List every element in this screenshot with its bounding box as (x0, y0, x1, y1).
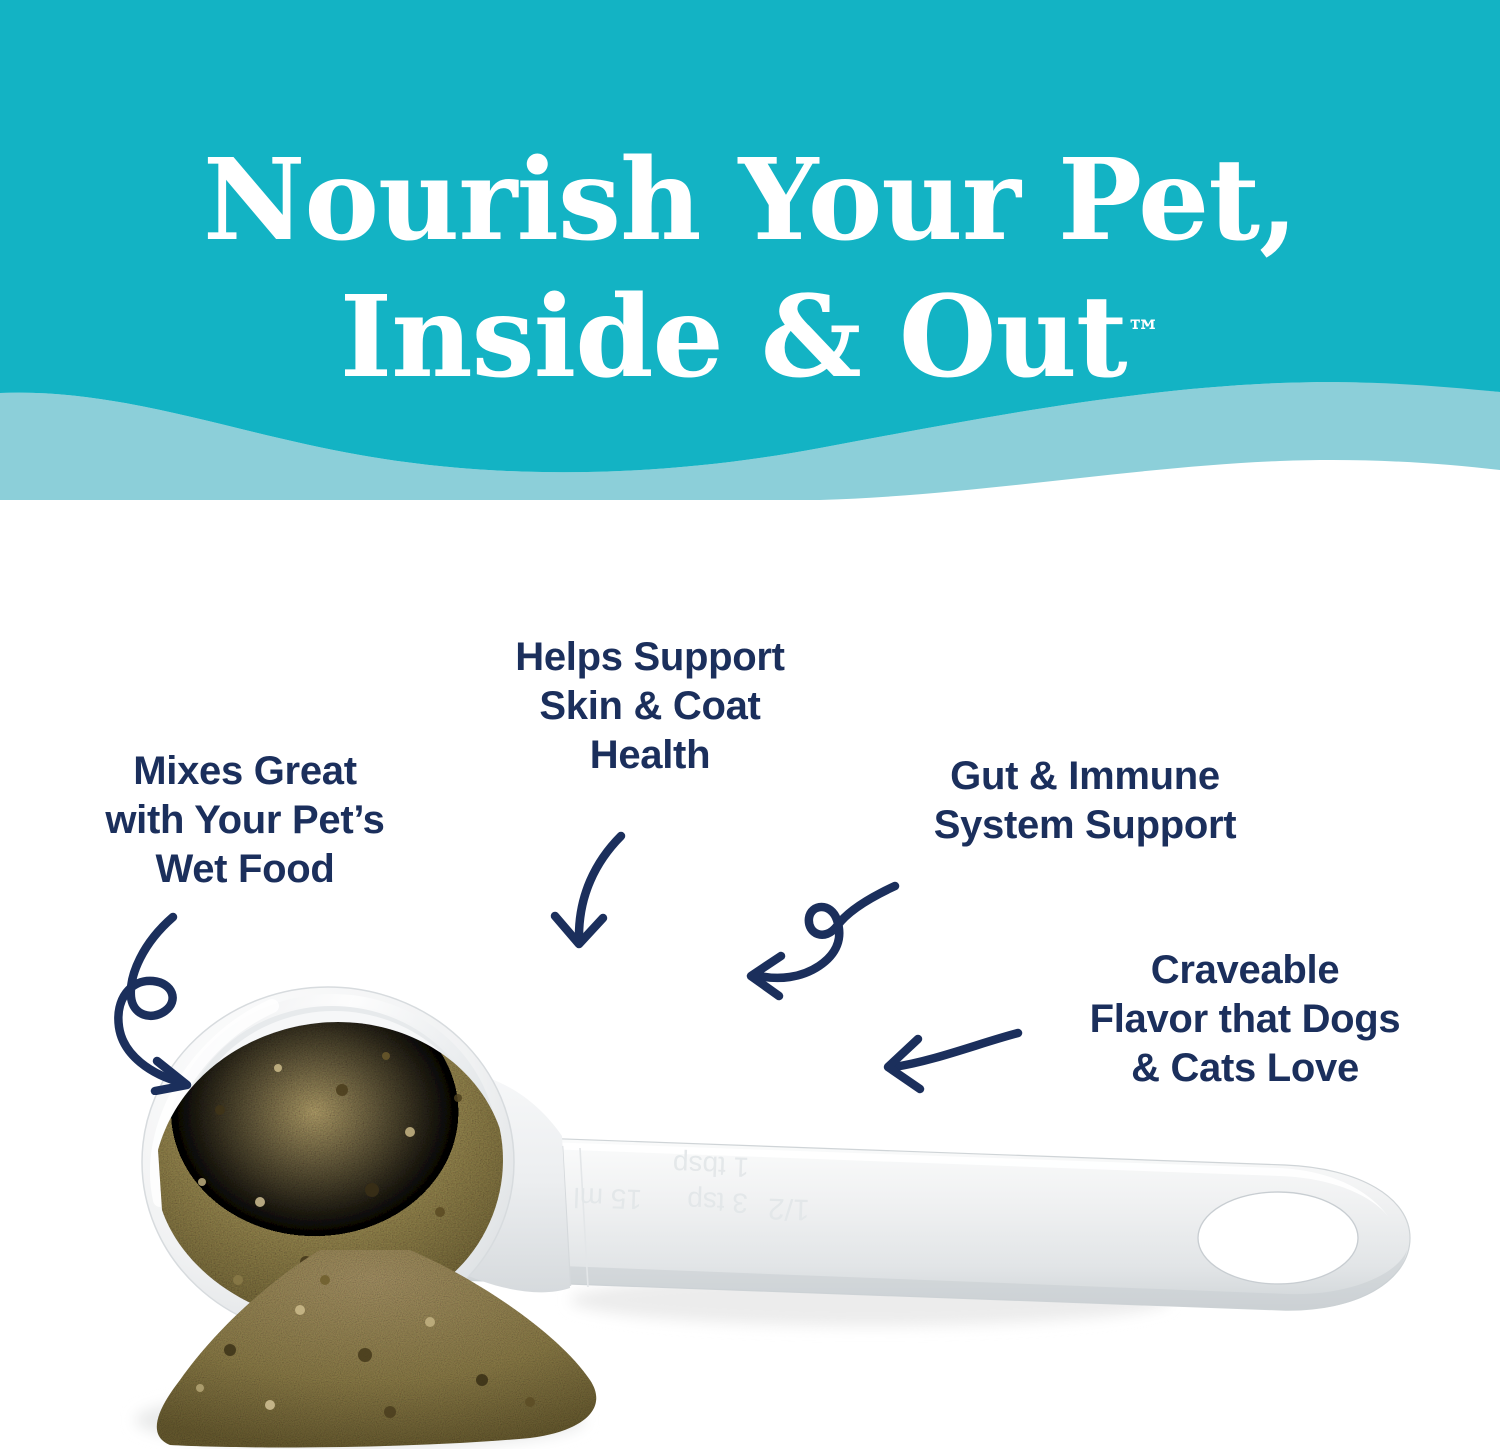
callout-mixes-line-3: Wet Food (30, 845, 460, 894)
handle-hang-hole (1198, 1192, 1358, 1284)
callout-skin-coat-health: Helps Support Skin & Coat Health (440, 633, 860, 779)
callout-flavor-line-2: Flavor that Dogs (1000, 995, 1490, 1044)
callout-gut-line-1: Gut & Immune (855, 752, 1315, 801)
svg-text:1 tbsp: 1 tbsp (672, 1149, 749, 1183)
callout-skin-line-2: Skin & Coat (440, 682, 860, 731)
trademark-symbol: ™ (1127, 312, 1161, 352)
callout-flavor-line-3: & Cats Love (1000, 1044, 1490, 1093)
scoop-handle: 1/2 3 tsp 1 tbsp 15 ml (455, 1135, 1410, 1310)
header-banner: Nourish Your Pet, Inside & Out™ (0, 0, 1500, 500)
curved-arrow-left-icon (872, 1013, 1027, 1103)
svg-text:3 tsp: 3 tsp (687, 1186, 749, 1219)
curly-loop-arrow-down-right-icon (85, 905, 265, 1095)
promotional-infographic: Nourish Your Pet, Inside & Out™ (0, 0, 1500, 1449)
callout-craveable-flavor: Craveable Flavor that Dogs & Cats Love (1000, 946, 1490, 1092)
curved-arrow-down-icon (545, 828, 665, 958)
callout-gut-line-2: System Support (855, 801, 1315, 850)
callout-gut-immune-support: Gut & Immune System Support (855, 752, 1315, 850)
svg-text:1/2: 1/2 (767, 1192, 810, 1226)
callout-mixes-line-2: with Your Pet’s (30, 796, 460, 845)
callout-skin-line-1: Helps Support (440, 633, 860, 682)
callout-skin-line-3: Health (440, 731, 860, 780)
headline-line-2-text: Inside & Out (340, 272, 1127, 403)
looped-arrow-down-left-icon (733, 872, 908, 1007)
callout-mixes-great: Mixes Great with Your Pet’s Wet Food (30, 747, 460, 893)
page-title: Nourish Your Pet, Inside & Out™ (0, 133, 1500, 406)
callout-flavor-line-1: Craveable (1000, 946, 1490, 995)
svg-text:15 ml: 15 ml (573, 1182, 643, 1215)
headline-line-1: Nourish Your Pet, (0, 133, 1500, 270)
callout-mixes-line-1: Mixes Great (30, 747, 460, 796)
headline-line-2: Inside & Out™ (0, 270, 1500, 407)
